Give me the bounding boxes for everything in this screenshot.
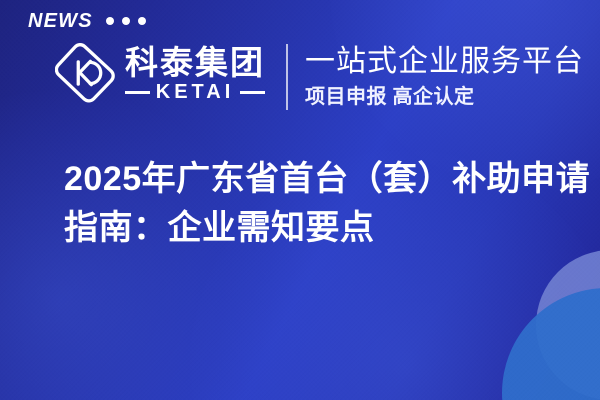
- tagline-block: 一站式企业服务平台 项目申报 高企认定: [305, 43, 584, 109]
- brand-lockup: 科泰集团 KETAI: [55, 42, 265, 104]
- tagline-secondary: 项目申报 高企认定: [305, 85, 584, 109]
- ketai-diamond-monogram-icon: [55, 42, 117, 104]
- dot-icon: [122, 17, 130, 25]
- decorative-circle-lilac: [536, 250, 600, 400]
- brand-name-en: KETAI: [156, 82, 235, 102]
- page-title-line-1: 2025年广东省首台（套）补助申请: [64, 155, 584, 204]
- decorative-circle-azure: [502, 288, 600, 400]
- page-title: 2025年广东省首台（套）补助申请 指南：企业需知要点: [64, 155, 584, 254]
- brand-rule-right: [240, 91, 265, 94]
- news-tag: NEWS: [28, 11, 146, 31]
- brand-name-cn: 科泰集团: [125, 46, 265, 81]
- tagline-primary: 一站式企业服务平台: [305, 43, 584, 81]
- news-dots: [106, 17, 146, 25]
- news-banner: NEWS 科泰集团 KETAI: [0, 0, 600, 400]
- dot-icon: [106, 17, 114, 25]
- brand-wordmark: 科泰集团 KETAI: [125, 46, 265, 103]
- brand-name-en-row: KETAI: [125, 82, 265, 102]
- dot-icon: [138, 17, 146, 25]
- brand-rule-left: [125, 91, 150, 94]
- brand-tagline-divider: [286, 44, 288, 110]
- page-title-line-2: 指南：企业需知要点: [64, 204, 584, 253]
- news-label: NEWS: [28, 11, 93, 31]
